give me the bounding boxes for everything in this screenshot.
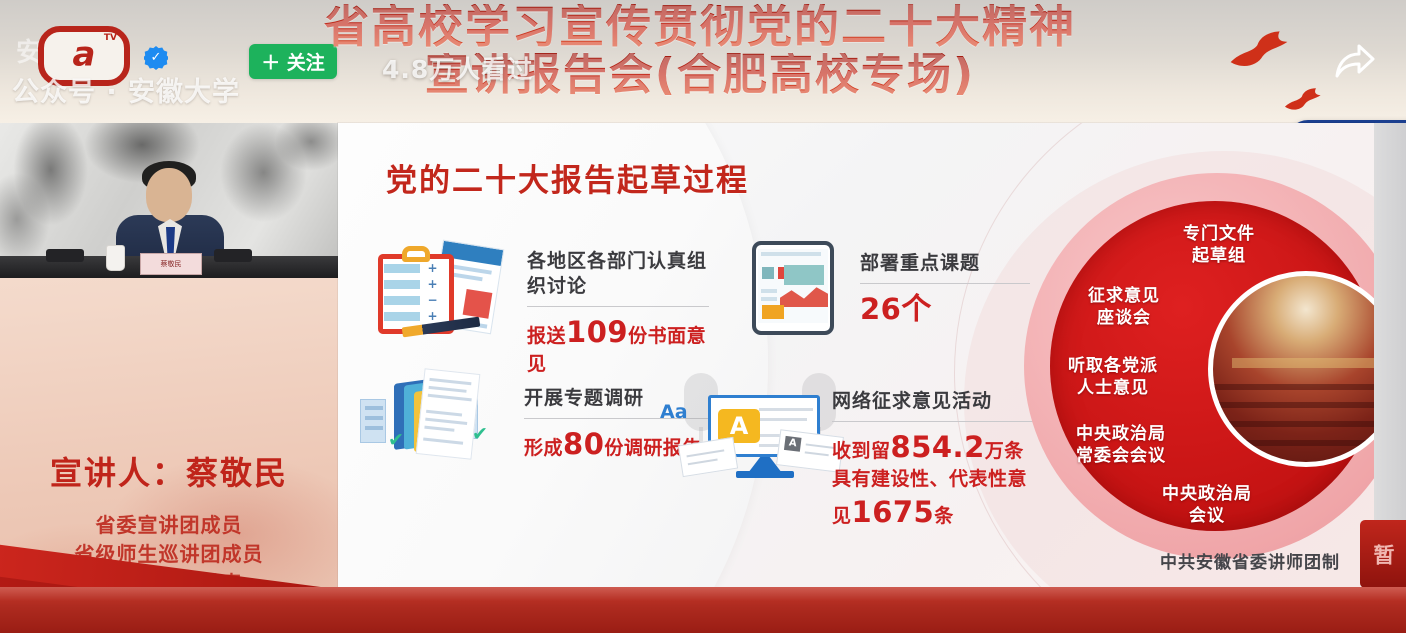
desk-nameplate: 蔡敬民	[140, 253, 202, 275]
ring-label-4: 中央政治局 常委会会议	[1046, 423, 1196, 467]
desk-nameplate-text: 蔡敬民	[161, 259, 182, 269]
clipboard-document-icon: + + − +	[372, 238, 504, 336]
speaker-head	[146, 168, 192, 222]
logo-letter-text: a	[73, 34, 96, 74]
ring-label-5: 中央政治局 会议	[1132, 483, 1282, 527]
microphone-base-icon	[214, 249, 252, 262]
slide-item-1: 各地区各部门认真组织讨论 报送109份书面意见	[527, 249, 709, 378]
slide-item-4-value-line2: 具有建设性、代表性意见1675条	[832, 467, 1042, 532]
ring-label-1: 专门文件 起草组	[1144, 223, 1294, 267]
viewer-count: 4.8万人看过	[382, 50, 533, 86]
dove-icon	[1279, 80, 1326, 124]
video-title-line-2: 宣讲报告会(合肥高校专场)	[240, 53, 1160, 98]
speaker-name: 宣讲人：蔡敬民	[0, 448, 338, 494]
microphone-base-icon	[46, 249, 84, 262]
video-title: 省高校学习宣传贯彻党的二十大精神 宣讲报告会(合肥高校专场)	[240, 4, 1160, 98]
slide-item-4: 网络征求意见活动 收到留854.2万条 具有建设性、代表性意见1675条	[832, 389, 1042, 532]
divider	[832, 421, 1042, 422]
verified-badge-icon	[144, 46, 168, 70]
slide-item-1-head: 各地区各部门认真组织讨论	[527, 249, 709, 299]
bottom-strip	[0, 587, 1406, 633]
channel-name: 公众号 · 安徽大学	[12, 70, 240, 109]
slide-item-2-head: 部署重点课题	[860, 251, 1030, 276]
speaker-panel: 蔡敬民 宣讲人：蔡敬民 省委宣讲团成员 省级师生巡讲团成员 党的二十大代表 安徽…	[0, 123, 338, 633]
speaker-photo: 蔡敬民	[0, 123, 338, 278]
folders-documents-icon: ✔✔	[360, 371, 506, 469]
video-player-stage: 安徽大学 TV a 公众号 · 安徽大学 ＋ 关注 省高校学习宣传贯彻党的二十大…	[0, 0, 1406, 633]
logo-tv-text: TV	[104, 33, 117, 43]
video-title-line-1: 省高校学习宣传贯彻党的二十大精神	[240, 4, 1160, 50]
share-icon[interactable]	[1333, 42, 1377, 82]
ring-label-3: 听取各党派 人士意见	[1042, 355, 1184, 399]
tea-cup-icon	[106, 245, 125, 271]
divider	[527, 306, 709, 307]
side-tab-button[interactable]: 暂	[1360, 520, 1406, 588]
online-feedback-icon: Aa A A	[674, 373, 854, 481]
slide-credit: 中共安徽省委讲师团制	[1160, 548, 1340, 573]
slide-item-1-value: 报送109份书面意见	[527, 313, 709, 378]
slide-title: 党的二十大报告起草过程	[386, 155, 749, 200]
divider	[860, 283, 1030, 284]
tablet-chart-icon	[752, 241, 834, 335]
slide-item-2-value: 26个	[860, 290, 1030, 331]
dove-icon	[1220, 15, 1298, 89]
ring-label-2: 征求意见 座谈会	[1060, 285, 1188, 329]
slide-right-edge	[1374, 123, 1406, 587]
slide-item-4-head: 网络征求意见活动	[832, 389, 1042, 414]
side-tab-label: 暂	[1368, 544, 1398, 565]
slide-item-4-value: 收到留854.2万条	[832, 428, 1042, 467]
video-header-banner: 安徽大学 TV a 公众号 · 安徽大学 ＋ 关注 省高校学习宣传贯彻党的二十大…	[0, 0, 1406, 125]
slide-item-2: 部署重点课题 26个	[860, 251, 1030, 331]
presentation-slide: 党的二十大报告起草过程 + + − + 各地区各部门认真组织讨论 报送109份书…	[338, 123, 1374, 587]
